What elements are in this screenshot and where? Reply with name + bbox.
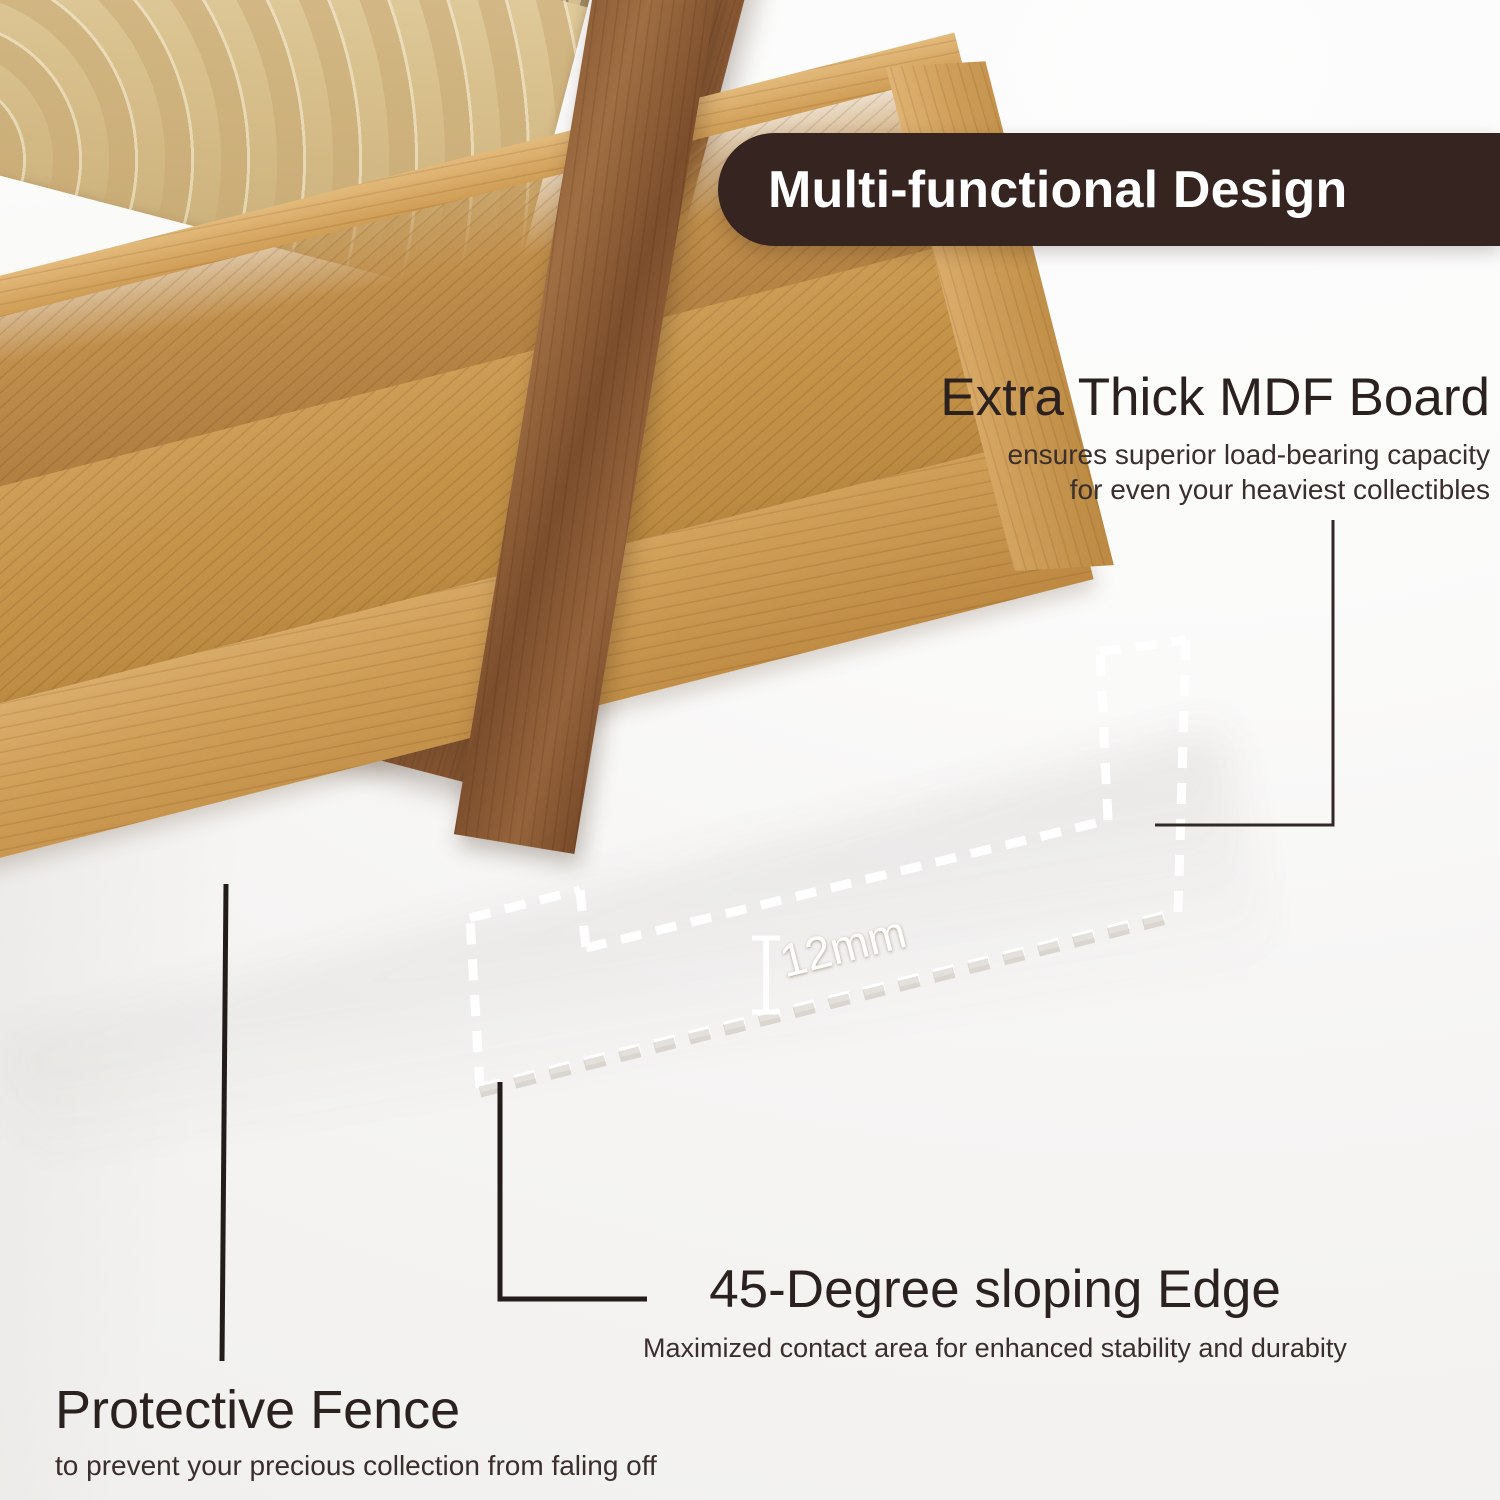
callout-mdf-board-subtitle: ensures superior load-bearing capacity f… (760, 437, 1490, 508)
banner-title: Multi-functional Design (768, 160, 1347, 220)
callout-sloping-edge-title: 45-Degree sloping Edge (600, 1262, 1390, 1317)
callout-mdf-board-subtitle-line1: ensures superior load-bearing capacity (760, 437, 1490, 472)
infographic-canvas: 12mm Multi-functional Design Extra Thick… (0, 0, 1500, 1500)
callout-sloping-edge-subtitle: Maximized contact area for enhanced stab… (600, 1331, 1390, 1365)
callout-protective-fence: Protective Fence to prevent your preciou… (55, 1382, 715, 1483)
banner-multi-functional-design: Multi-functional Design (718, 133, 1500, 246)
callout-sloping-edge: 45-Degree sloping Edge Maximized contact… (600, 1262, 1390, 1365)
callout-mdf-board-subtitle-line2: for even your heaviest collectibles (760, 472, 1490, 507)
callout-protective-fence-subtitle: to prevent your precious collection from… (55, 1448, 715, 1483)
callout-mdf-board-title: Extra Thick MDF Board (760, 370, 1490, 425)
callout-protective-fence-title: Protective Fence (55, 1382, 715, 1438)
callout-mdf-board: Extra Thick MDF Board ensures superior l… (760, 370, 1490, 508)
